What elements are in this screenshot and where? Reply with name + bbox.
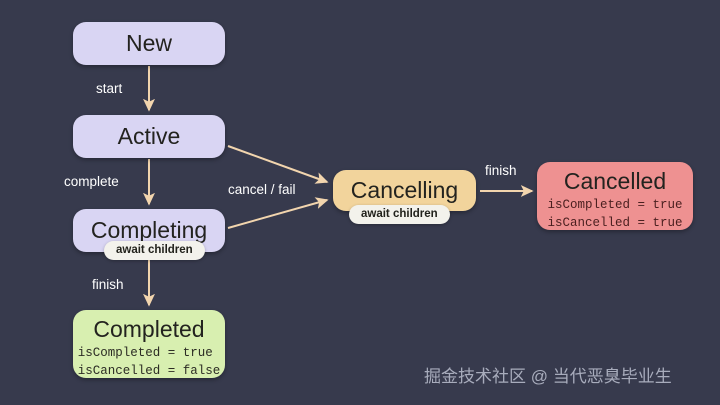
state-node-active[interactable]: Active	[73, 115, 225, 158]
edge-label-finish-completing: finish	[92, 277, 124, 292]
state-label-completing: Completing	[91, 218, 207, 242]
state-properties-cancelled: isCompleted = trueisCancelled = true	[547, 196, 682, 232]
state-node-new[interactable]: New	[73, 22, 225, 65]
await-children-badge-completing: await children	[104, 241, 205, 260]
state-properties-completed: isCompleted = trueisCancelled = false	[78, 344, 221, 380]
property-is-cancelled: isCancelled = true	[547, 216, 682, 230]
edge-completing-to-cancelling	[228, 200, 327, 228]
property-is-completed: isCompleted = true	[547, 198, 682, 212]
property-is-completed: isCompleted = true	[78, 346, 213, 360]
state-node-cancelled[interactable]: Cancelled isCompleted = trueisCancelled …	[537, 162, 693, 230]
edge-active-to-cancelling	[228, 146, 327, 182]
edge-label-start: start	[96, 81, 122, 96]
state-node-completed[interactable]: Completed isCompleted = trueisCancelled …	[73, 310, 225, 378]
edge-label-cancel-fail: cancel / fail	[228, 182, 296, 197]
edge-label-complete: complete	[64, 174, 119, 189]
state-label-new: New	[126, 31, 172, 55]
state-label-cancelling: Cancelling	[351, 178, 458, 202]
property-is-cancelled: isCancelled = false	[78, 364, 221, 378]
state-label-cancelled: Cancelled	[564, 169, 666, 193]
state-label-completed: Completed	[93, 317, 204, 341]
edge-label-finish-cancelling: finish	[485, 163, 517, 178]
state-label-active: Active	[118, 124, 181, 148]
watermark-text: 掘金技术社区 @ 当代恶臭毕业生	[424, 362, 672, 387]
await-children-badge-cancelling: await children	[349, 205, 450, 224]
diagram-canvas: New Active Completing Completed isComple…	[0, 0, 720, 405]
